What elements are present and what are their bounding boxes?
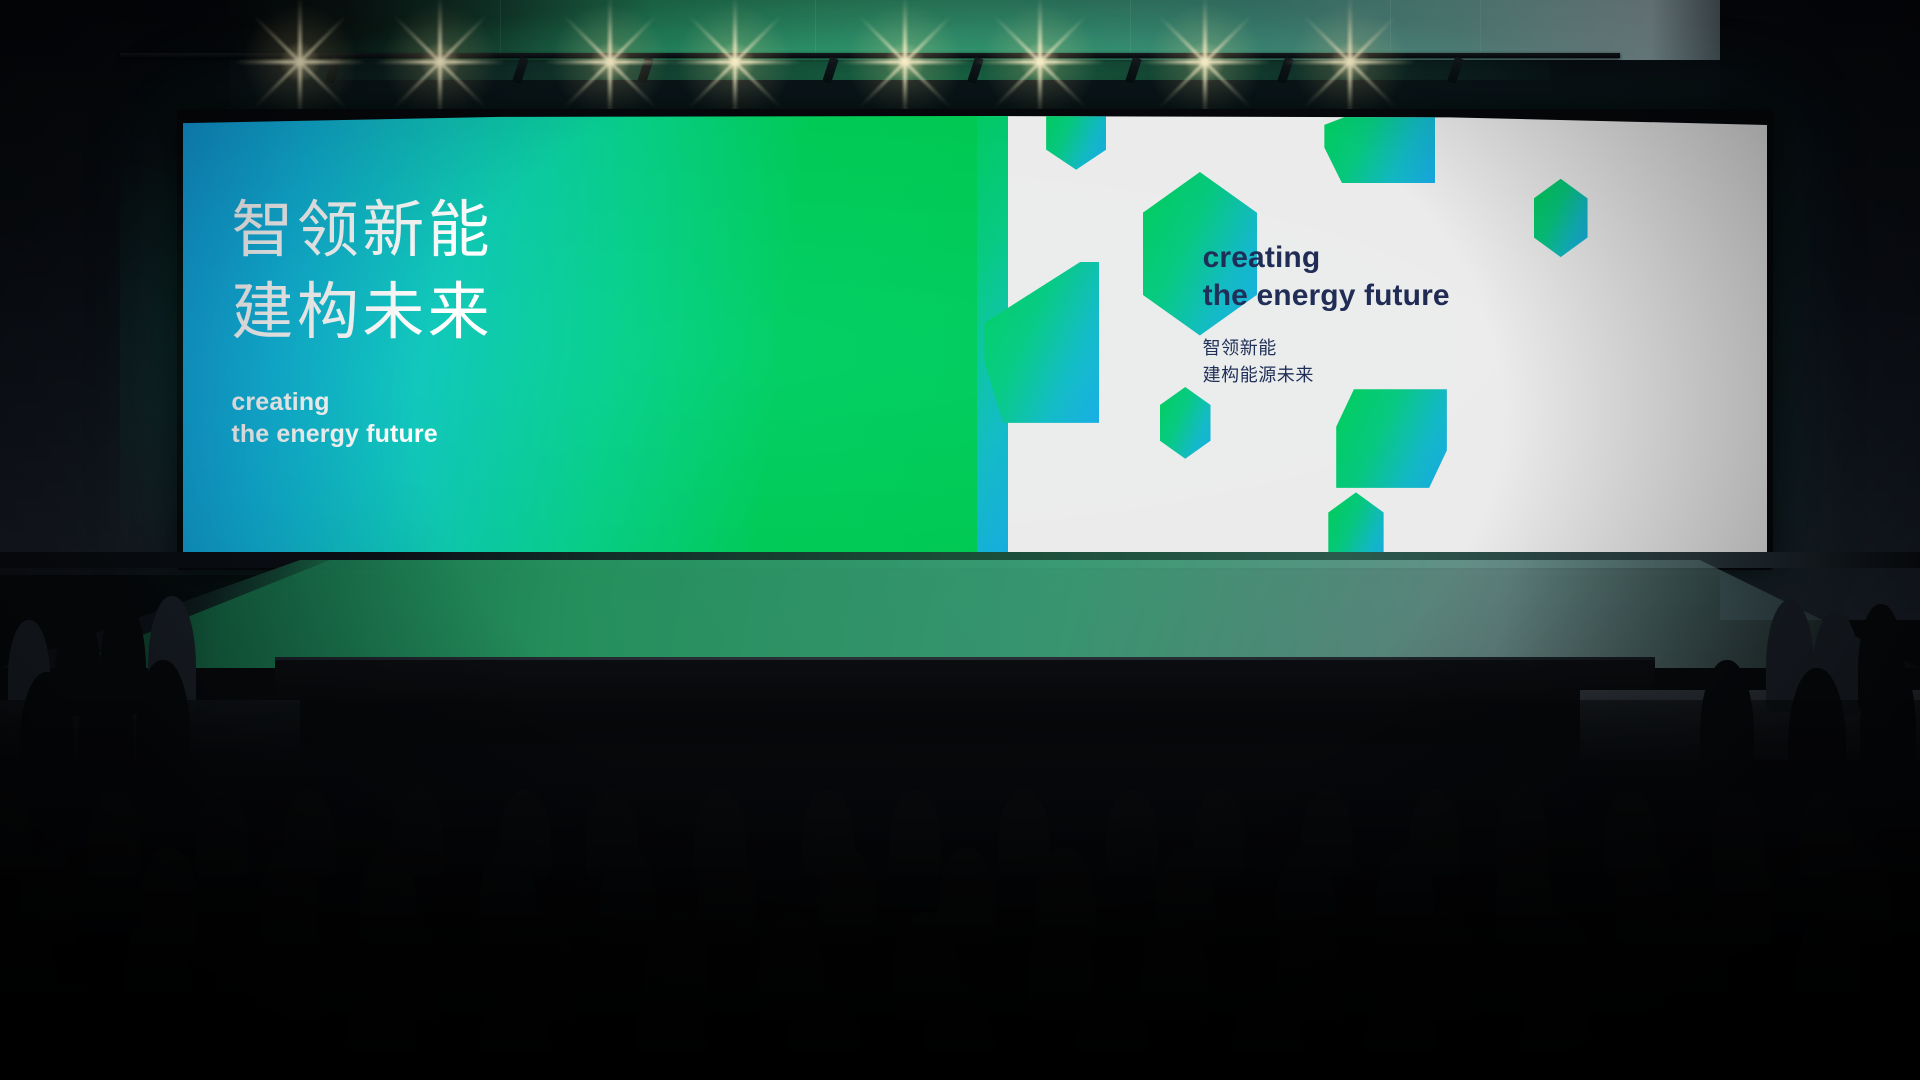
lighting-truss	[120, 53, 1620, 58]
screen-surface: 智领新能 建构未来 creating the energy future cre…	[183, 116, 1767, 564]
green-light-spill	[300, 0, 1550, 80]
audience-silhouette	[1615, 848, 1673, 944]
audience-silhouette	[818, 848, 876, 944]
right-subline-line2: 建构能源未来	[1203, 362, 1450, 388]
right-panel-text-block: creating the energy future 智领新能 建构能源未来	[1203, 239, 1450, 388]
left-panel-text-block: 智领新能 建构未来 creating the energy future	[231, 190, 493, 450]
audience-silhouette	[196, 790, 248, 876]
left-headline-line1: 智领新能	[231, 190, 493, 272]
left-headline-line2: 建构未来	[231, 272, 493, 354]
hex-bottom-right	[1336, 389, 1447, 488]
left-tagline-line2: the energy future	[231, 418, 493, 450]
audience-silhouette	[1142, 912, 1208, 1020]
audience-silhouette	[190, 985, 264, 1080]
audience-silhouette	[998, 790, 1050, 876]
hex-upper-right	[1324, 116, 1435, 183]
right-headline-line1: creating	[1203, 239, 1450, 277]
audience-silhouette	[125, 912, 191, 1020]
audience-silhouette	[260, 912, 326, 1020]
audience-silhouette	[1106, 790, 1158, 876]
audience-silhouette	[1028, 912, 1094, 1020]
audience-silhouette	[698, 848, 756, 944]
hex-far-right	[1534, 179, 1588, 257]
slide-panel-left: 智领新能 建构未来 creating the energy future	[183, 116, 977, 564]
left-tagline: creating the energy future	[231, 386, 493, 450]
audience-silhouette	[88, 790, 140, 876]
led-video-wall[interactable]: 智领新能 建构未来 creating the energy future cre…	[183, 116, 1767, 564]
slide-panel-right: creating the energy future 智领新能 建构能源未来	[977, 116, 1767, 564]
hex-small-low	[1160, 387, 1211, 459]
left-tagline-line1: creating	[231, 386, 493, 418]
stage-scene: 智领新能 建构未来 creating the energy future cre…	[0, 0, 1920, 1080]
stage-floor	[0, 560, 1920, 668]
right-subline: 智领新能 建构能源未来	[1203, 335, 1450, 388]
right-subline-line1: 智领新能	[1203, 335, 1450, 361]
hex-top-small	[1046, 116, 1106, 170]
audience-house-silhouette	[0, 700, 1920, 1080]
audience-silhouette	[599, 848, 657, 944]
audience-silhouette	[889, 790, 941, 876]
audience-silhouette	[0, 790, 32, 876]
right-headline-line2: the energy future	[1203, 277, 1450, 315]
